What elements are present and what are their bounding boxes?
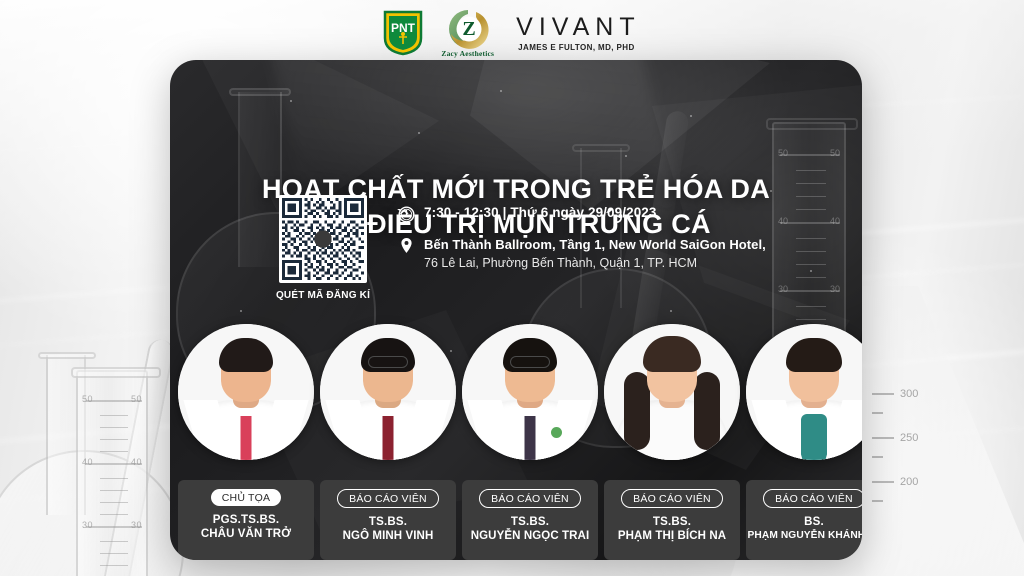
avatar <box>746 324 862 460</box>
zacy-aesthetics-logo: Z Zacy Aesthetics <box>441 8 494 58</box>
cylinder-mark-label: 50 <box>82 394 93 404</box>
cylinder-mark-label: 50 <box>131 394 142 404</box>
vivant-logo: VIVANT JAMES E FULTON, MD, PHD <box>516 15 640 52</box>
avatar <box>462 324 598 460</box>
background-graduated-cylinder-left: 50 50 40 40 30 30 20 10 <box>76 370 148 576</box>
status-badge: BÁO CÁO VIÊN <box>621 489 723 508</box>
cylinder-mark-label: 50 <box>778 148 788 158</box>
speaker-card[interactable]: BÁO CÁO VIÊN TS.BS. NGÔ MINH VINH <box>320 324 456 560</box>
eyeglasses-icon <box>510 356 550 368</box>
clock-icon <box>398 206 415 223</box>
cylinder-mark-label: 30 <box>830 284 840 294</box>
speaker-name: NGUYỄN NGỌC TRAI <box>471 530 590 542</box>
cylinder-mark-label: 50 <box>830 148 840 158</box>
cylinder-mark-label: 30 <box>778 284 788 294</box>
erlenmeyer-scale: 300 250 200 <box>872 388 962 518</box>
status-badge: CHỦ TỌA <box>211 489 281 506</box>
pnt-shield-icon: PNT <box>383 10 423 56</box>
event-time-row: 7:30 - 12:30 | Thứ 6 ngày 29/09/2023 <box>398 205 818 223</box>
speaker-name: NGÔ MINH VINH <box>343 530 434 542</box>
speaker-plate: CHỦ TỌA PGS.TS.BS. CHÂU VĂN TRỞ <box>178 480 314 560</box>
event-info-block: 7:30 - 12:30 | Thứ 6 ngày 29/09/2023 Bến… <box>398 205 818 285</box>
speaker-list: CHỦ TỌA PGS.TS.BS. CHÂU VĂN TRỞ BÁO CÁO … <box>178 324 854 560</box>
pnt-university-logo: PNT <box>383 10 423 56</box>
flask-mark-label: 200 <box>900 476 918 488</box>
speaker-card[interactable]: BÁO CÁO VIÊN TS.BS. PHẠM THỊ BÍCH NA <box>604 324 740 560</box>
speaker-card[interactable]: BÁO CÁO VIÊN TS.BS. NGUYỄN NGỌC TRAI <box>462 324 598 560</box>
cylinder-mark-label: 30 <box>131 520 142 530</box>
zacy-logo-caption: Zacy Aesthetics <box>441 49 494 58</box>
flask-mark-label: 250 <box>900 432 918 444</box>
poster-card: 50 50 40 40 30 30 20 HOẠT CHẤT MỚI TRONG… <box>170 60 862 560</box>
status-badge: BÁO CÁO VIÊN <box>337 489 439 508</box>
status-badge: BÁO CÁO VIÊN <box>763 489 862 508</box>
avatar <box>320 324 456 460</box>
status-badge: BÁO CÁO VIÊN <box>479 489 581 508</box>
vivant-logo-text: VIVANT <box>516 15 640 40</box>
speaker-name: CHÂU VĂN TRỞ <box>201 528 291 540</box>
event-address: 76 Lê Lai, Phường Bến Thành, Quận 1, TP.… <box>424 256 697 270</box>
event-location-row: Bến Thành Ballroom, Tầng 1, New World Sa… <box>398 236 818 272</box>
zacy-letter-z: Z <box>462 18 475 40</box>
vivant-logo-subtitle: JAMES E FULTON, MD, PHD <box>518 43 634 52</box>
speaker-card[interactable]: BÁO CÁO VIÊN BS. PHẠM NGUYỄN KHÁNH LY <box>746 324 862 560</box>
cylinder-mark-label: 30 <box>82 520 93 530</box>
event-location-text: Bến Thành Ballroom, Tầng 1, New World Sa… <box>424 236 766 272</box>
eyeglasses-icon <box>368 356 408 368</box>
header-logo-bar: PNT Z Zacy <box>0 8 1024 58</box>
qr-caption: QUÉT MÃ ĐĂNG KÍ <box>270 290 376 301</box>
speaker-degree: BS. <box>804 516 824 528</box>
speaker-degree: PGS.TS.BS. <box>213 514 280 526</box>
speaker-name: PHẠM NGUYỄN KHÁNH LY <box>748 530 862 541</box>
flask-mark-label: 300 <box>900 388 918 400</box>
speaker-degree: TS.BS. <box>653 516 691 528</box>
location-pin-icon <box>398 237 415 254</box>
avatar <box>604 324 740 460</box>
cylinder-mark-label: 40 <box>82 457 93 467</box>
zacy-z-mark-icon: Z <box>445 8 491 50</box>
qr-registration-block[interactable]: QUÉT MÃ ĐĂNG KÍ <box>270 195 376 301</box>
speaker-degree: TS.BS. <box>369 516 407 528</box>
clinic-badge-icon <box>551 427 562 438</box>
cylinder-mark-label: 40 <box>131 457 142 467</box>
speaker-name: PHẠM THỊ BÍCH NA <box>618 530 726 542</box>
speaker-plate: BÁO CÁO VIÊN TS.BS. NGUYỄN NGỌC TRAI <box>462 480 598 560</box>
event-time-text: 7:30 - 12:30 | Thứ 6 ngày 29/09/2023 <box>424 205 657 220</box>
speaker-plate: BÁO CÁO VIÊN TS.BS. NGÔ MINH VINH <box>320 480 456 560</box>
speaker-plate: BÁO CÁO VIÊN BS. PHẠM NGUYỄN KHÁNH LY <box>746 480 862 560</box>
speaker-plate: BÁO CÁO VIÊN TS.BS. PHẠM THỊ BÍCH NA <box>604 480 740 560</box>
speaker-card[interactable]: CHỦ TỌA PGS.TS.BS. CHÂU VĂN TRỞ <box>178 324 314 560</box>
qr-code-icon[interactable] <box>279 195 367 283</box>
speaker-degree: TS.BS. <box>511 516 549 528</box>
avatar <box>178 324 314 460</box>
event-venue: Bến Thành Ballroom, Tầng 1, New World Sa… <box>424 237 766 252</box>
